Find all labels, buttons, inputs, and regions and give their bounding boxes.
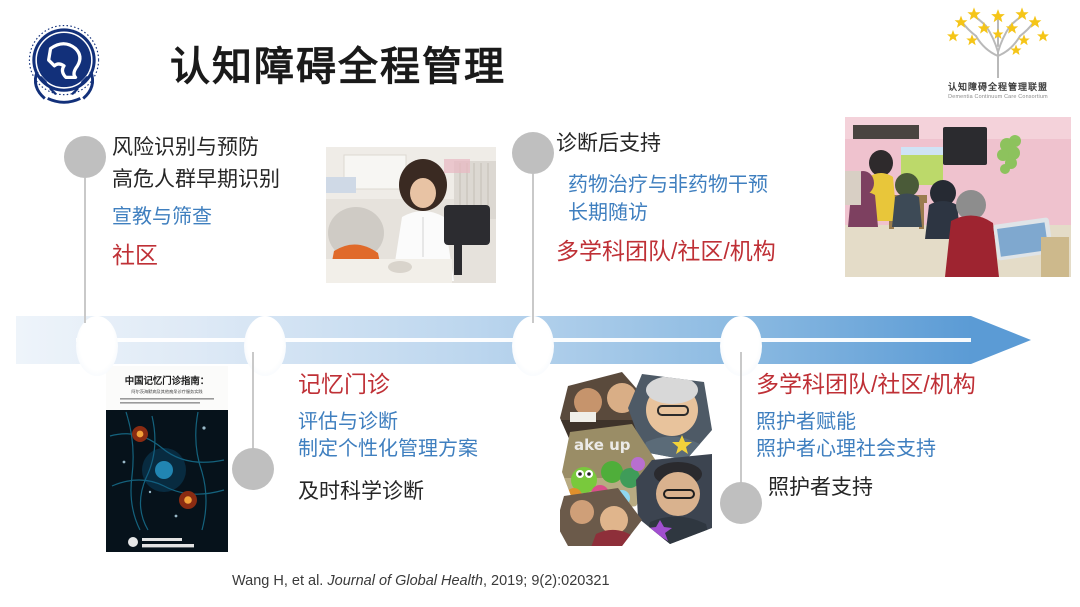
stage-risk-setting: 社区 — [112, 239, 280, 272]
timeline-arrow — [16, 316, 1064, 364]
svg-text:阿尔茨海默病及其他痴呆诊疗服务实践: 阿尔茨海默病及其他痴呆诊疗服务实践 — [131, 388, 203, 395]
stage-post-diagnosis-heading: 诊断后支持 — [556, 128, 776, 160]
stage-memory-clinic-block: 记忆门诊 评估与诊断 制定个性化管理方案 及时科学诊断 — [298, 368, 478, 508]
marker-line-stage-3 — [532, 174, 534, 323]
stage-post-diagnosis-detail-2: 长期随访 — [568, 200, 776, 228]
stage-post-diagnosis-block: 诊断后支持 药物治疗与非药物干预 长期随访 多学科团队/社区/机构 — [556, 128, 776, 268]
stage-memory-clinic-detail-1: 评估与诊断 — [298, 409, 478, 437]
photo-activity-room — [845, 117, 1071, 277]
stage-caregiver-heading: 多学科团队/社区/机构 — [756, 368, 976, 401]
stage-memory-clinic-footer: 及时科学诊断 — [298, 476, 478, 508]
stage-risk-subheading: 高危人群早期识别 — [112, 164, 280, 196]
timeline-node-2[interactable] — [244, 316, 286, 376]
timeline-node-1[interactable] — [76, 316, 118, 376]
stage-caregiver-detail-1: 照护者赋能 — [756, 409, 976, 437]
citation-authors: Wang H, et al. — [232, 573, 323, 589]
stage-memory-clinic-heading: 记忆门诊 — [298, 368, 478, 401]
arrow-head-icon — [971, 316, 1031, 364]
marker-line-stage-4 — [740, 352, 742, 484]
stage-caregiver-detail-2: 照护者心理社会支持 — [756, 436, 976, 464]
citation-journal: Journal of Global Health — [327, 573, 483, 589]
marker-line-stage-2 — [252, 352, 254, 450]
page-title: 认知障碍全程管理 — [170, 34, 506, 92]
citation: Wang H, et al. Journal of Global Health,… — [232, 573, 610, 589]
stage-post-diagnosis-detail-1: 药物治疗与非药物干预 — [568, 172, 776, 200]
stage-memory-clinic-detail-2: 制定个性化管理方案 — [298, 436, 478, 464]
svg-text:ake up: ake up — [574, 436, 631, 454]
marker-dot-stage-1[interactable] — [64, 136, 106, 178]
stage-post-diagnosis-setting: 多学科团队/社区/机构 — [556, 235, 776, 268]
consortium-name-cn: 认知障碍全程管理联盟 — [928, 83, 1068, 93]
stage-caregiver-footer: 照护者支持 — [768, 472, 976, 504]
institution-logo-icon — [16, 14, 112, 110]
marker-dot-stage-2[interactable] — [232, 448, 274, 490]
stage-risk-block: 风险识别与预防 高危人群早期识别 宣教与筛查 社区 — [112, 132, 280, 272]
slide-canvas: 认知障碍全程管理 — [0, 0, 1080, 607]
stage-risk-detail-1: 宣教与筛查 — [112, 204, 280, 232]
photo-clinic — [326, 147, 496, 283]
consortium-logo: 认知障碍全程管理联盟 Dementia Continuum Care Conso… — [928, 6, 1068, 110]
stage-risk-heading: 风险识别与预防 — [112, 132, 280, 164]
marker-dot-stage-3[interactable] — [512, 132, 554, 174]
tree-icon — [928, 6, 1068, 78]
timeline-node-3[interactable] — [512, 316, 554, 376]
consortium-name-en: Dementia Continuum Care Consortium — [928, 94, 1068, 100]
citation-rest: , 2019; 9(2):020321 — [483, 573, 610, 589]
stage-caregiver-block: 多学科团队/社区/机构 照护者赋能 照护者心理社会支持 照护者支持 — [756, 368, 976, 504]
svg-text:中国记忆门诊指南：: 中国记忆门诊指南： — [125, 375, 209, 387]
photo-collage: ake up — [560, 368, 712, 546]
photo-book-cover: 中国记忆门诊指南： 阿尔茨海默病及其他痴呆诊疗服务实践 — [106, 366, 228, 552]
marker-line-stage-1 — [84, 178, 86, 323]
